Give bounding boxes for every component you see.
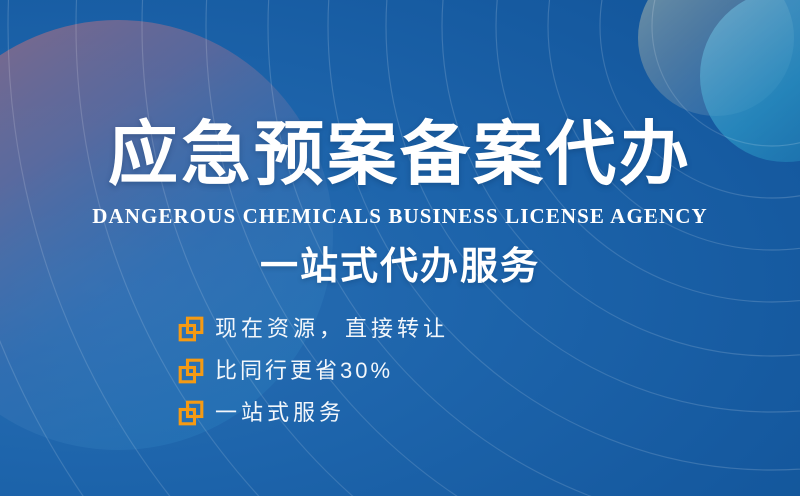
feature-list: 现在资源，直接转让 比同行更省30% 一站式服务 [178, 314, 449, 428]
list-item-label: 现在资源，直接转让 [215, 315, 449, 343]
list-item: 现在资源，直接转让 [178, 314, 449, 344]
tagline: 一站式代办服务 [0, 243, 800, 291]
promo-banner: 应急预案备案代办 DANGEROUS CHEMICALS BUSINESS LI… [0, 0, 800, 496]
list-item: 一站式服务 [178, 398, 449, 428]
page-title: 应急预案备案代办 [0, 113, 800, 195]
overlapping-squares-icon [178, 400, 204, 426]
subtitle-english: DANGEROUS CHEMICALS BUSINESS LICENSE AGE… [0, 204, 800, 228]
list-item-label: 比同行更省30% [215, 357, 393, 385]
list-item: 比同行更省30% [178, 356, 449, 386]
overlapping-squares-icon [178, 358, 204, 384]
list-item-label: 一站式服务 [215, 399, 345, 427]
banner-content: 应急预案备案代办 DANGEROUS CHEMICALS BUSINESS LI… [0, 0, 800, 496]
overlapping-squares-icon [178, 316, 204, 342]
